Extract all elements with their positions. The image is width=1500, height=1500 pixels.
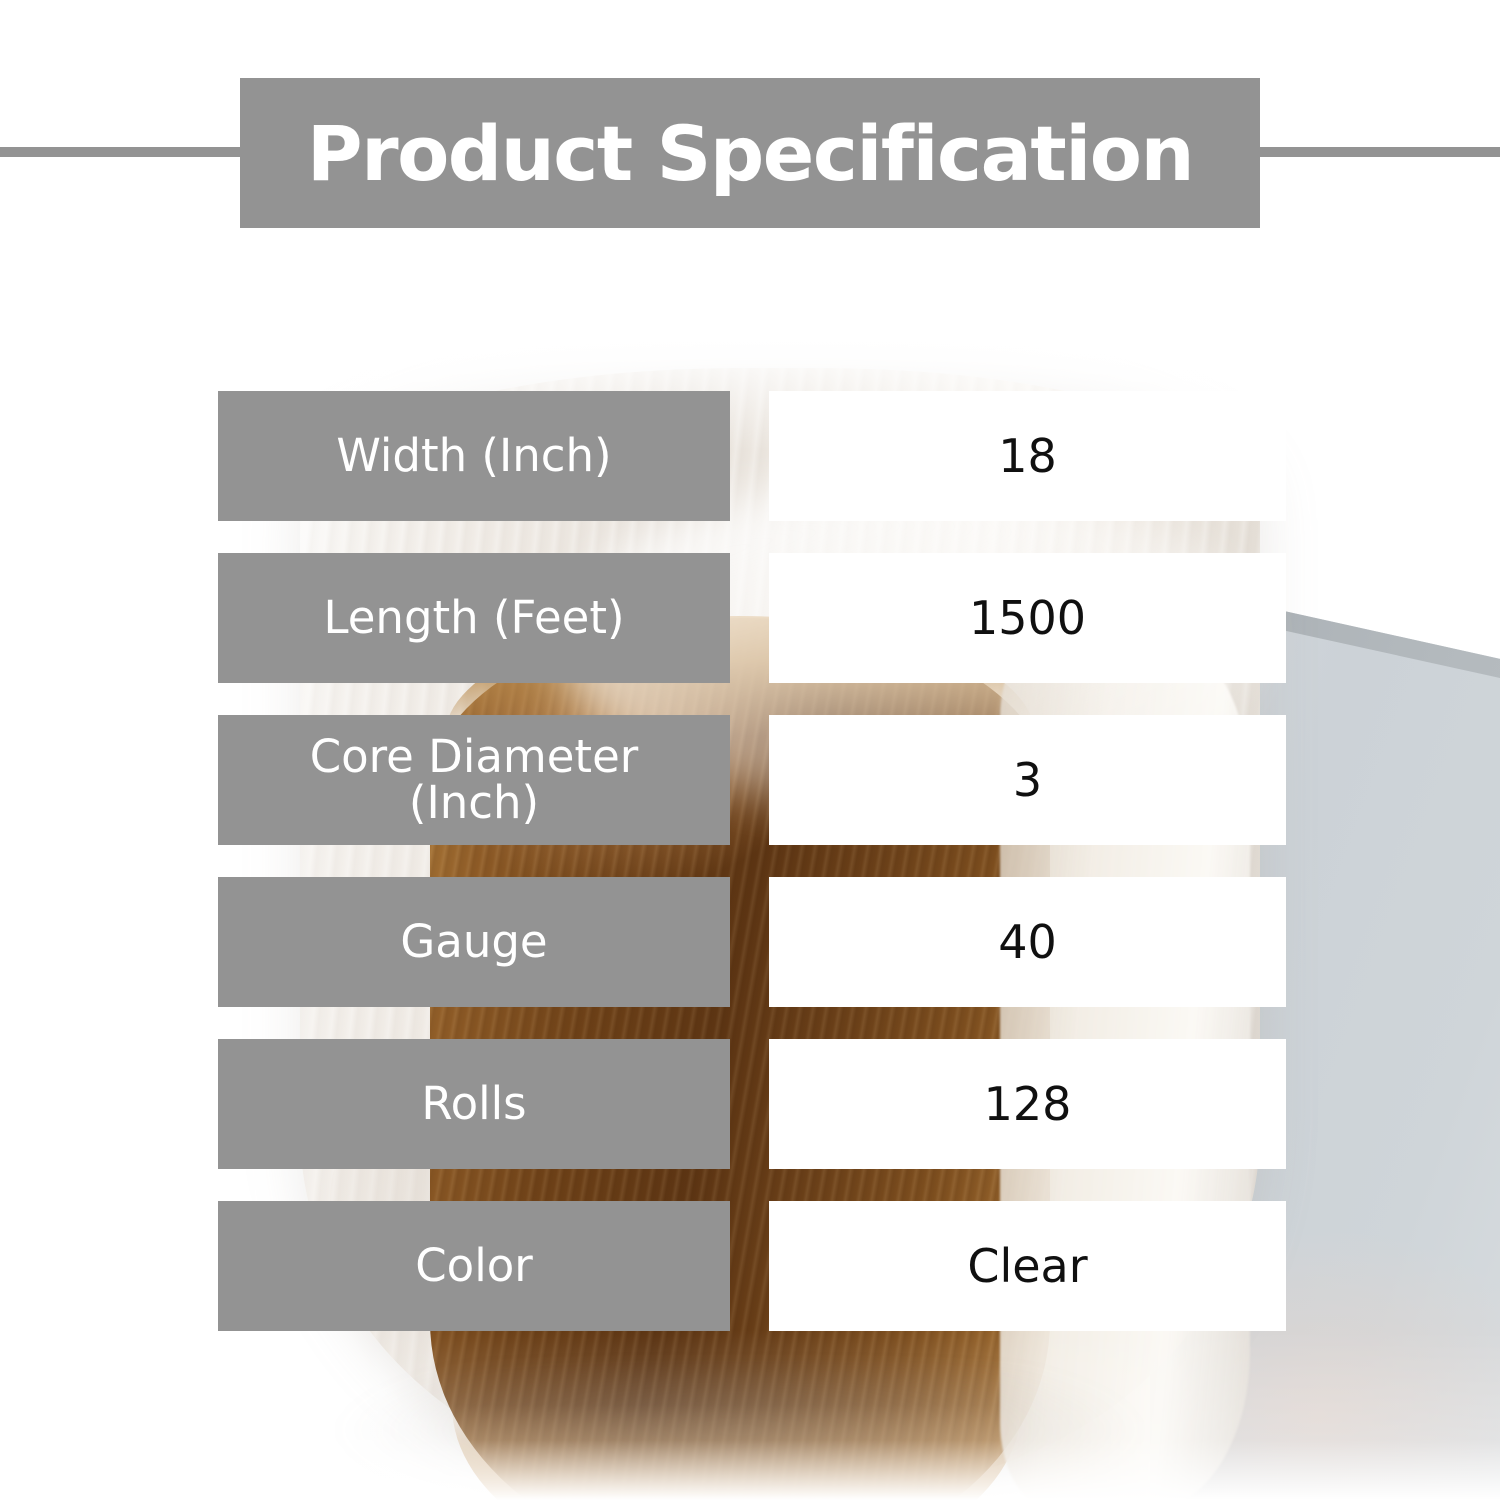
page-title: Product Specification — [307, 109, 1193, 198]
spec-label-color: Color — [218, 1201, 730, 1331]
spec-label-core-diameter: Core Diameter (Inch) — [218, 715, 730, 845]
spec-value-core-diameter: 3 — [769, 715, 1286, 845]
spec-label-length: Length (Feet) — [218, 553, 730, 683]
table-row: Width (Inch) 18 — [218, 391, 1288, 521]
product-specification-page: Product Specification Width (Inch) 18 Le… — [0, 0, 1500, 1500]
spec-value-width: 18 — [769, 391, 1286, 521]
table-row: Color Clear — [218, 1201, 1288, 1331]
table-row: Length (Feet) 1500 — [218, 553, 1288, 683]
title-banner: Product Specification — [240, 78, 1260, 228]
spec-label-gauge: Gauge — [218, 877, 730, 1007]
spec-label-width: Width (Inch) — [218, 391, 730, 521]
spec-value-gauge: 40 — [769, 877, 1286, 1007]
spec-value-rolls: 128 — [769, 1039, 1286, 1169]
spec-label-rolls: Rolls — [218, 1039, 730, 1169]
table-row: Core Diameter (Inch) 3 — [218, 715, 1288, 845]
table-row: Gauge 40 — [218, 877, 1288, 1007]
film-roll-shadow — [330, 1370, 1150, 1500]
spec-table: Width (Inch) 18 Length (Feet) 1500 Core … — [218, 391, 1288, 1363]
spec-value-color: Clear — [769, 1201, 1286, 1331]
table-row: Rolls 128 — [218, 1039, 1288, 1169]
spec-value-length: 1500 — [769, 553, 1286, 683]
